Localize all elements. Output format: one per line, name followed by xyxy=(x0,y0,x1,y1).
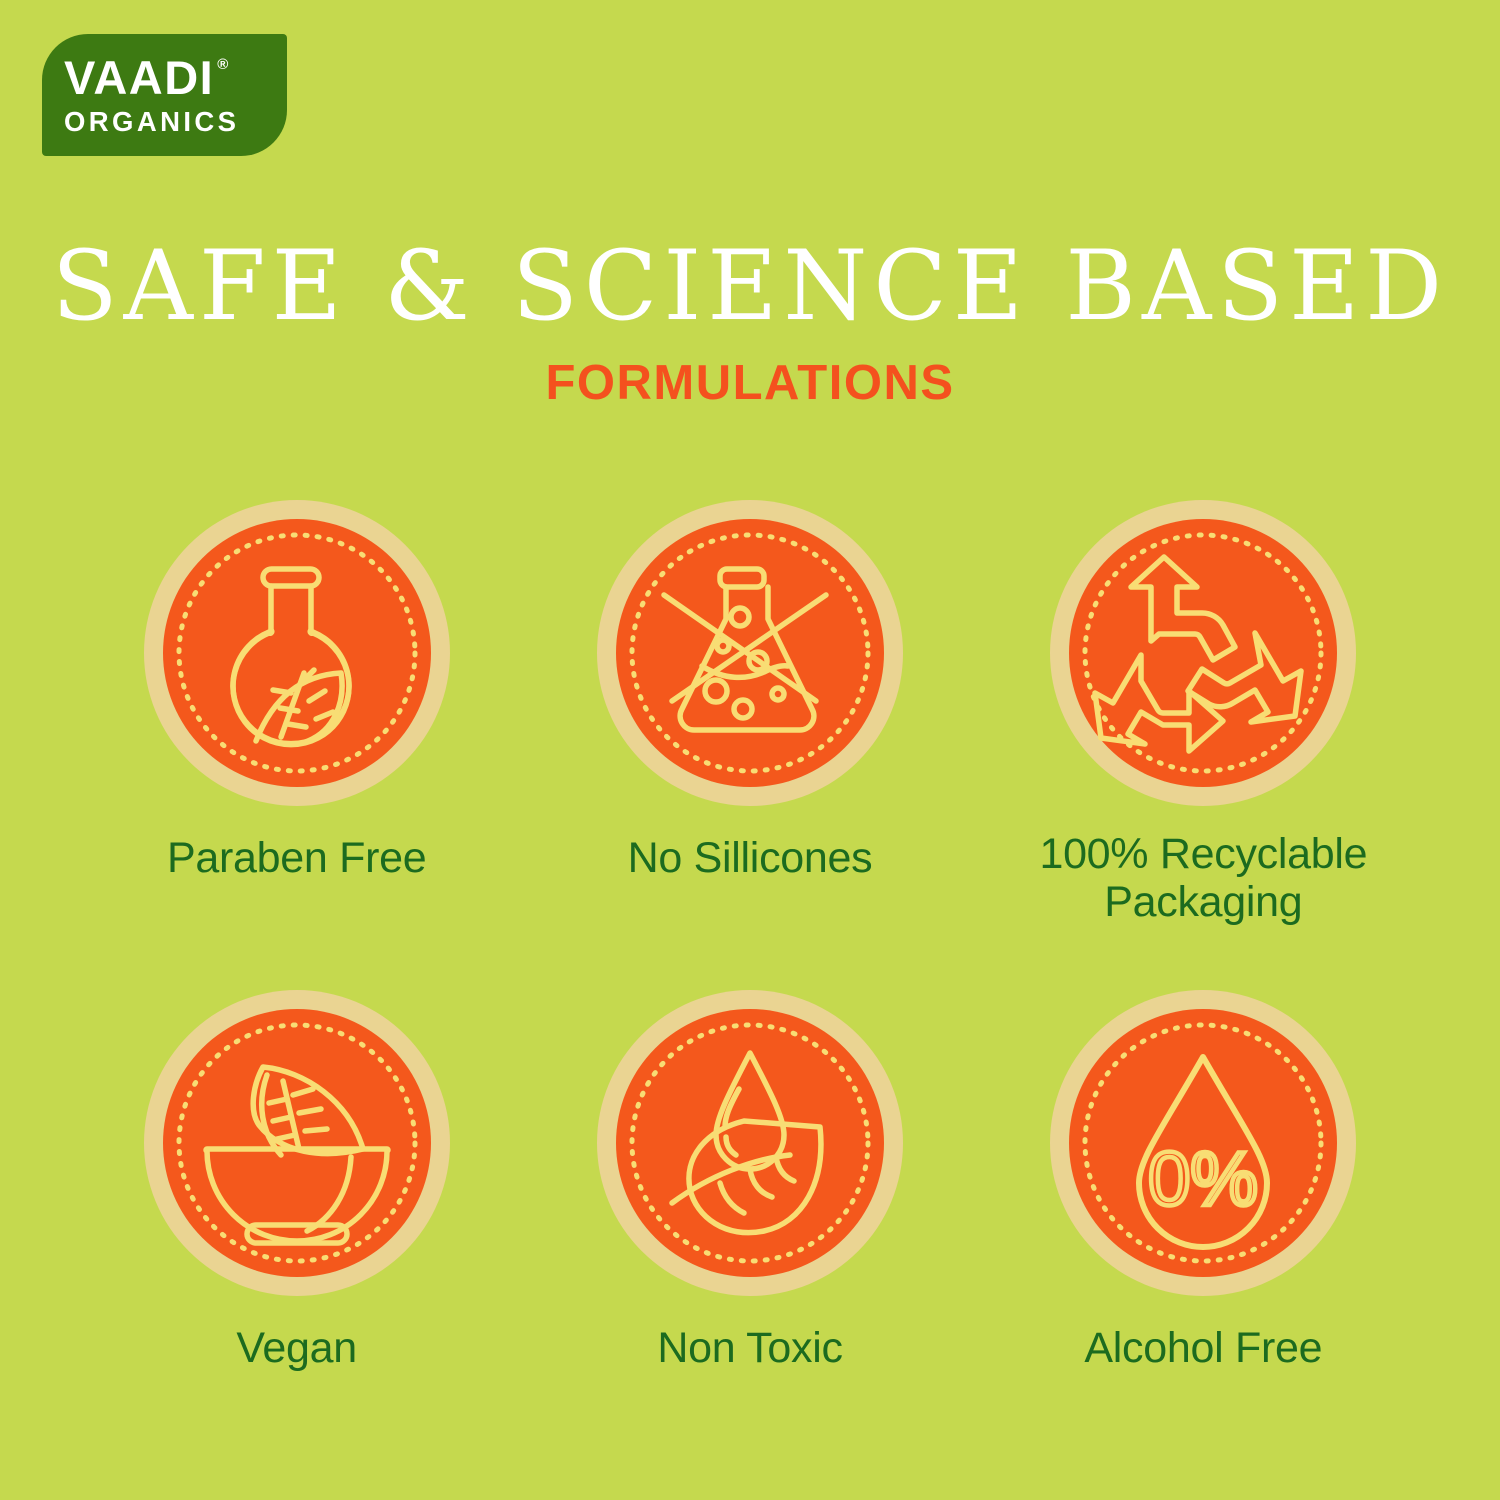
brand-logo: VAADI ® ORGANICS xyxy=(42,34,287,156)
badge-no-sillicones xyxy=(597,500,903,806)
brand-logo-wordmark-row: VAADI ® xyxy=(64,55,287,101)
flask-leaf-icon xyxy=(163,519,431,787)
badge-cell-vegan: Vegan xyxy=(70,990,523,1372)
badge-label-line2: Packaging xyxy=(1104,878,1302,926)
registered-trademark-icon: ® xyxy=(217,57,228,72)
flask-crossed-icon xyxy=(616,519,884,787)
badge-label: No Sillicones xyxy=(628,834,873,882)
poster-canvas: VAADI ® ORGANICS SAFE & SCIENCE BASED FO… xyxy=(0,0,1500,1500)
droplet-leaf-icon xyxy=(616,1009,884,1277)
badge-recyclable xyxy=(1050,500,1356,806)
badge-cell-paraben-free: Paraben Free xyxy=(70,500,523,926)
badge-cell-non-toxic: Non Toxic xyxy=(523,990,976,1372)
page-title: SAFE & SCIENCE BASED xyxy=(0,236,1500,337)
badge-cell-alcohol-free: 0% Alcohol Free xyxy=(977,990,1430,1372)
bowl-leaf-icon xyxy=(163,1009,431,1277)
badge-label: Vegan xyxy=(236,1324,356,1372)
badge-label: Alcohol Free xyxy=(1084,1324,1322,1372)
badge-non-toxic xyxy=(597,990,903,1296)
badge-cell-recyclable: 100% Recyclable Packaging xyxy=(977,500,1430,926)
brand-logo-wordmark: VAADI xyxy=(64,55,214,101)
badge-label: Non Toxic xyxy=(657,1324,842,1372)
badge-label: Paraben Free xyxy=(167,834,426,882)
badge-label: 100% Recyclable Packaging xyxy=(1039,830,1367,926)
badge-alcohol-free: 0% xyxy=(1050,990,1356,1296)
heading-block: SAFE & SCIENCE BASED FORMULATIONS xyxy=(0,236,1500,408)
brand-logo-tagline: ORGANICS xyxy=(64,108,287,136)
badge-paraben-free xyxy=(144,500,450,806)
recycle-icon xyxy=(1069,519,1337,787)
badge-cell-no-sillicones: No Sillicones xyxy=(523,500,976,926)
droplet-zero-percent-icon: 0% xyxy=(1069,1009,1337,1277)
badge-vegan xyxy=(144,990,450,1296)
feature-badge-grid: Paraben Free xyxy=(70,500,1430,1372)
badge-label-line1: 100% Recyclable xyxy=(1039,830,1367,878)
zero-percent-text: 0% xyxy=(1148,1137,1258,1222)
page-subtitle: FORMULATIONS xyxy=(0,359,1500,408)
